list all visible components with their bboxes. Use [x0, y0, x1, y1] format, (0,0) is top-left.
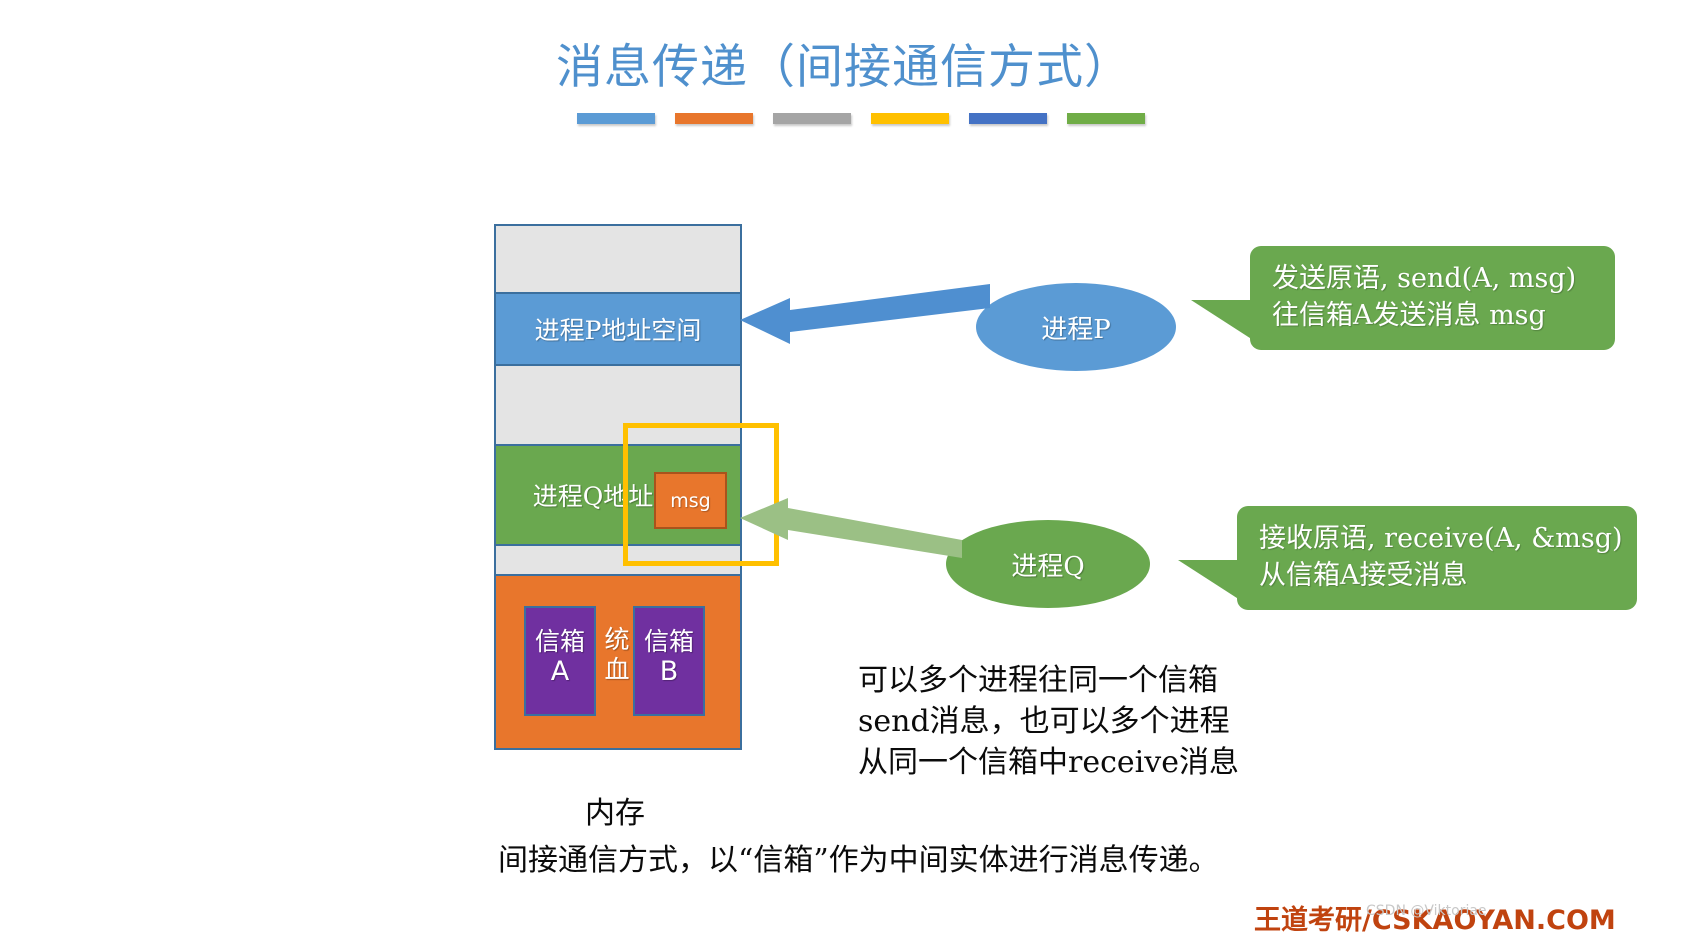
note-paragraph: 可以多个进程往同一个信箱 send消息，也可以多个进程 从同一个信箱中recei…: [858, 660, 1239, 783]
accent-bar-6: [1067, 113, 1145, 124]
memory-caption: 内存: [585, 788, 645, 832]
callout-send-line-1: 发送原语, send(A, msg): [1272, 260, 1597, 297]
accent-bar-1: [577, 113, 655, 124]
memory-block-process-p-label: 进程P地址空间: [535, 311, 702, 347]
mailbox-a: 信箱 A: [524, 606, 596, 716]
note-line-1: 可以多个进程往同一个信箱: [858, 660, 1239, 701]
callout-receive-tail: [1178, 560, 1240, 600]
process-q-node: 进程Q: [946, 520, 1150, 608]
callout-send: 发送原语, send(A, msg) 往信箱A发送消息 msg: [1250, 246, 1615, 350]
site-watermark: CSDN @Viktoriae: [1366, 903, 1487, 919]
mailbox-b: 信箱 B: [633, 606, 705, 716]
process-p-node: 进程P: [976, 283, 1176, 371]
process-q-label: 进程Q: [1011, 546, 1084, 583]
callout-send-tail: [1191, 300, 1253, 340]
msg-box-label: msg: [670, 490, 710, 512]
memory-block-process-p: 进程P地址空间: [496, 294, 740, 366]
accent-bar-2: [675, 113, 753, 124]
process-p-label: 进程P: [1041, 309, 1111, 346]
memory-free-block-2: [496, 366, 740, 446]
mailbox-a-name: 信箱: [535, 627, 585, 656]
memory-block-process-q: 进程Q地址空间 msg: [496, 446, 740, 546]
mailbox-a-letter: A: [526, 657, 594, 687]
accent-bar-3: [773, 113, 851, 124]
callout-receive: 接收原语, receive(A, &msg) 从信箱A接受消息: [1237, 506, 1637, 610]
title-accent-bars: [577, 113, 1145, 124]
memory-free-block-3: [496, 546, 740, 576]
page-title: 消息传递（间接通信方式）: [0, 28, 1688, 97]
mailbox-b-name: 信箱: [644, 627, 694, 656]
mailbox-occluded-text: 统血: [600, 625, 634, 685]
accent-bar-4: [871, 113, 949, 124]
summary-line: 间接通信方式，以“信箱”作为中间实体进行消息传递。: [498, 835, 1219, 879]
callout-receive-line-1: 接收原语, receive(A, &msg): [1259, 520, 1619, 557]
callout-receive-line-2: 从信箱A接受消息: [1259, 557, 1619, 594]
callout-send-line-2: 往信箱A发送消息 msg: [1272, 297, 1597, 334]
note-line-3: 从同一个信箱中receive消息: [858, 742, 1239, 783]
arrow-memory-to-receive: [740, 492, 962, 562]
arrow-send-to-memory: [740, 278, 990, 348]
memory-free-block-1: [496, 226, 740, 294]
accent-bar-5: [969, 113, 1047, 124]
memory-column: 进程P地址空间 进程Q地址空间 msg 统血 信箱 A 信箱 B: [494, 224, 742, 750]
memory-mailbox-area: 统血 信箱 A 信箱 B: [496, 576, 740, 748]
mailbox-b-letter: B: [635, 657, 703, 687]
msg-box: msg: [654, 472, 727, 529]
note-line-2: send消息，也可以多个进程: [858, 701, 1239, 742]
